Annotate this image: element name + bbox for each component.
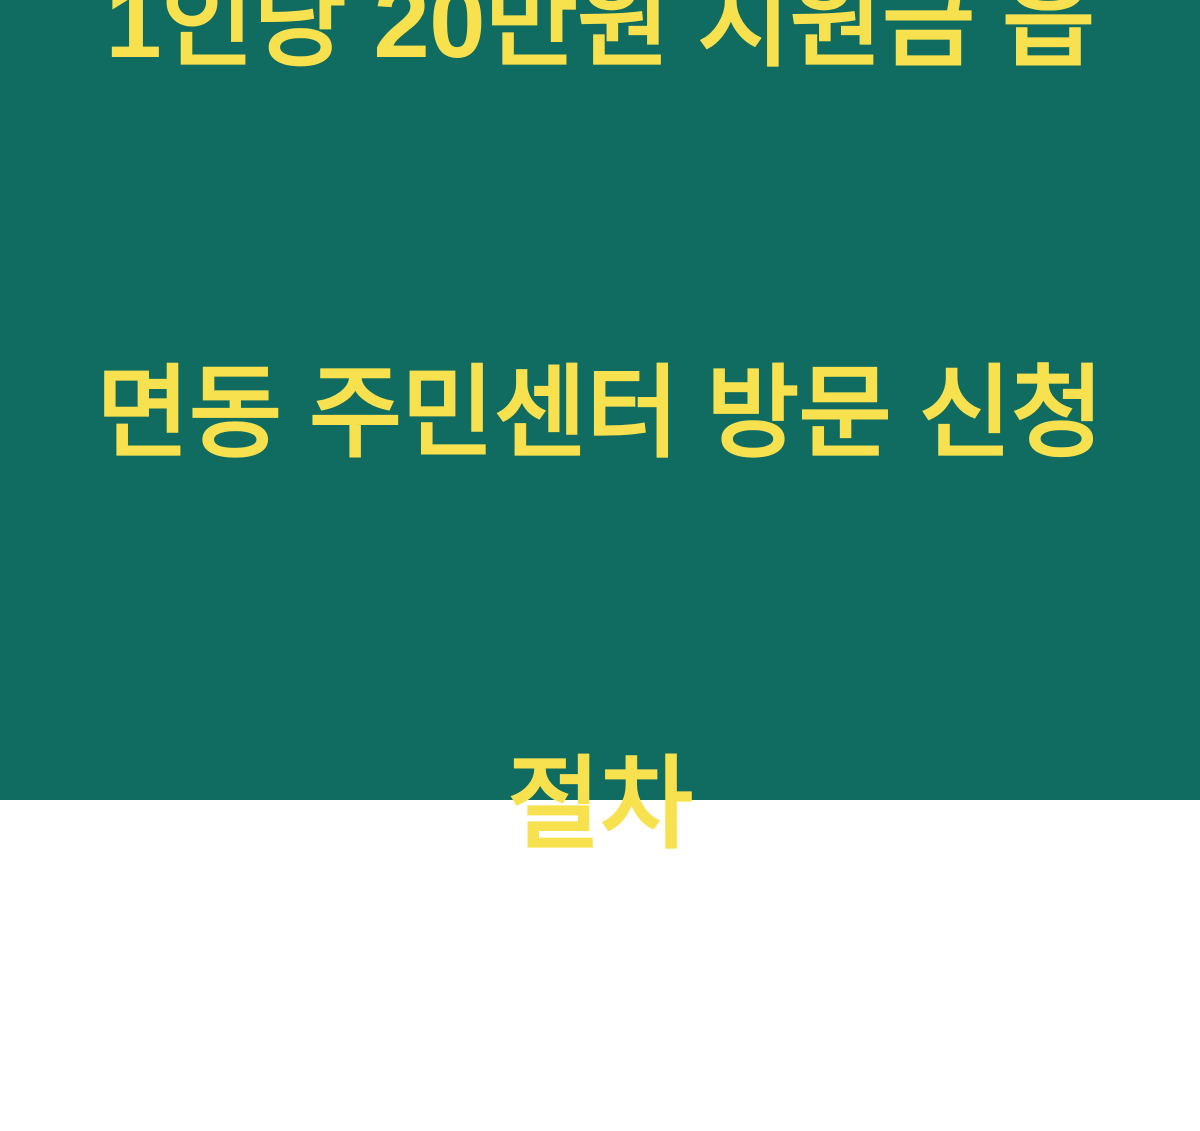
headline-line-3: 절차	[95, 740, 1105, 870]
headline-line-1: 1인당 20만원 지원금 읍	[95, 0, 1105, 88]
thumbnail-card: 1인당 20만원 지원금 읍 면동 주민센터 방문 신청 절차	[0, 0, 1200, 800]
page-title: 1인당 20만원 지원금 읍 면동 주민센터 방문 신청 절차	[95, 0, 1105, 1131]
headline-line-2: 면동 주민센터 방문 신청	[95, 349, 1105, 479]
headline-block: 1인당 20만원 지원금 읍 면동 주민센터 방문 신청 절차	[95, 0, 1105, 1131]
